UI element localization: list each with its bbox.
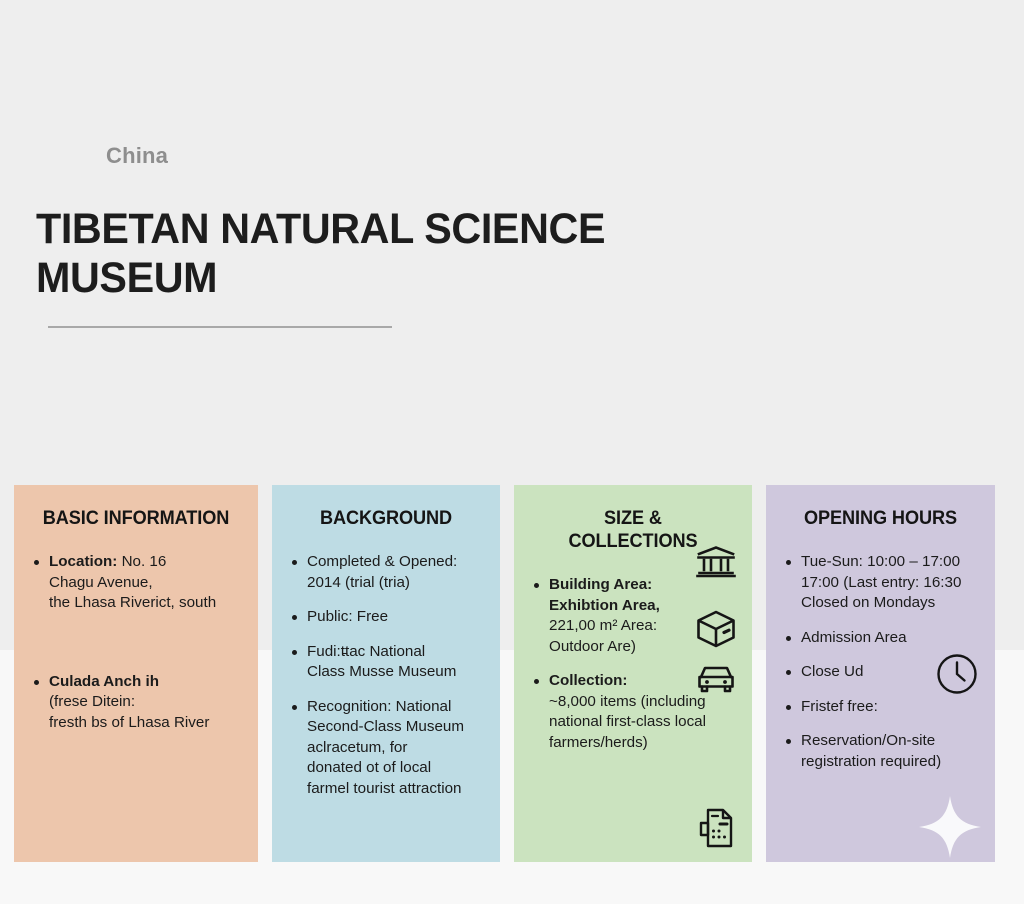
list-item-text: Public: Free [307,608,388,625]
card-grid: BASIC INFORMATION Location: No. 16 Chagu… [0,485,1024,862]
card-background: BACKGROUND Completed & Opened: 2014 (tri… [272,485,500,862]
list-item: Fristef free: [784,697,977,718]
list-item-text: Fudi:t̵tac National Class Musse Museum [307,643,456,681]
list-item-strong: Building Area: Exhibtion Area, [549,576,660,614]
page-title: TIBETAN NATURAL SCIENCE MUSEUM [36,205,650,303]
list-item: Culada Anch ih (frese Ditein: fresth bs … [32,672,240,734]
list-item-text: Fristef free: [801,698,878,715]
list-item: Completed & Opened: 2014 (trial (tria) [290,552,482,593]
list-item: Building Area: Exhibtion Area, 221,00 m²… [532,575,734,657]
country-label: China [106,143,168,169]
list-item-strong: Location: [49,553,117,570]
list-item-strong: Collection: [549,672,627,689]
list-item: Recognition: National Second-Class Museu… [290,697,482,800]
list-item-text: 221,00 m² Area: Outdoor Are) [549,617,657,655]
card-basic-information-list: Location: No. 16 Chagu Avenue, the Lhasa… [32,552,240,733]
card-opening-hours-list: Tue-Sun: 10:00 – 17:00 17:00 (Last entry… [784,552,977,772]
card-title-opening-hours: OPENING HOURS [791,507,970,530]
card-title-basic-information: BASIC INFORMATION [39,507,232,530]
list-item: Reservation/On-site registration require… [784,731,977,772]
list-item: Public: Free [290,607,482,628]
list-item-text: Reservation/On-site registration require… [801,732,941,770]
list-item-text: Completed & Opened: 2014 (trial (tria) [307,553,457,591]
list-item-text: Close Ud [801,663,863,680]
list-item-strong: Culada Anch ih [49,673,159,690]
list-item: Tue-Sun: 10:00 – 17:00 17:00 (Last entry… [784,552,977,614]
card-size-and-collections: SIZE & COLLECTIONS [514,485,752,862]
list-item-text: ~8,000 items (including national first-c… [549,693,706,751]
sparkle-icon [917,794,983,860]
bank-icon [696,545,736,578]
list-item: Location: No. 16 Chagu Avenue, the Lhasa… [32,552,240,614]
document-icon [698,807,734,849]
list-item-text: (frese Ditein: fresth bs of Lhasa River [49,693,209,731]
title-divider [48,326,392,328]
card-title-background: BACKGROUND [297,507,476,530]
list-item: Collection: ~8,000 items (including nati… [532,671,734,753]
list-item: Fudi:t̵tac National Class Musse Museum [290,642,482,683]
list-item-text: Tue-Sun: 10:00 – 17:00 17:00 (Last entry… [801,553,961,611]
list-item-text: Admission Area [801,629,907,646]
list-item: Close Ud [784,662,977,683]
card-basic-information: BASIC INFORMATION Location: No. 16 Chagu… [14,485,258,862]
card-opening-hours: OPENING HOURS Tue-Sun: 10:00 – 17:00 17:… [766,485,995,862]
list-item: Admission Area [784,628,977,649]
card-size-and-collections-list: Building Area: Exhibtion Area, 221,00 m²… [532,575,734,753]
card-background-list: Completed & Opened: 2014 (trial (tria) P… [290,552,482,799]
list-item-text: Recognition: National Second-Class Museu… [307,698,464,797]
